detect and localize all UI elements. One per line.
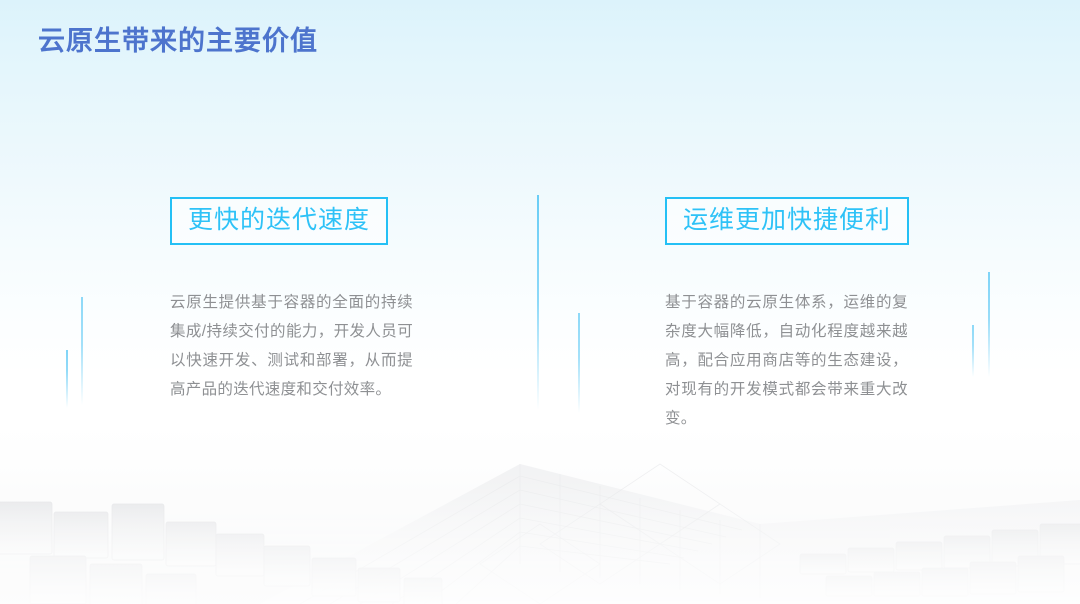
page-title: 云原生带来的主要价值 [38, 19, 318, 58]
hairline-right-inner [972, 325, 974, 377]
background-decoration-blocks [0, 404, 1080, 604]
hairline-left-outer [66, 350, 68, 408]
hairline-right-outer [988, 272, 990, 377]
column-body-faster-iteration: 云原生提供基于容器的全面的持续集成/持续交付的能力，开发人员可以快速开发、测试和… [170, 288, 413, 404]
horizon-fade [0, 484, 1080, 604]
hairline-left-inner [81, 297, 83, 405]
slide-canvas: 云原生带来的主要价值 更快的迭代速度 云原生提供基于容器的全面的持续集成/持续交… [0, 0, 1080, 604]
hairline-mid-inner [578, 313, 580, 413]
value-column-easier-operations: 运维更加快捷便利 基于容器的云原生体系，运维的复杂度大幅降低，自动化程度越来越高… [665, 197, 913, 433]
column-heading-faster-iteration: 更快的迭代速度 [170, 197, 388, 245]
value-column-faster-iteration: 更快的迭代速度 云原生提供基于容器的全面的持续集成/持续交付的能力，开发人员可以… [170, 197, 418, 404]
column-heading-easier-operations: 运维更加快捷便利 [665, 197, 909, 245]
column-body-easier-operations: 基于容器的云原生体系，运维的复杂度大幅降低，自动化程度越来越高，配合应用商店等的… [665, 288, 908, 433]
hairline-mid-outer [537, 195, 539, 410]
